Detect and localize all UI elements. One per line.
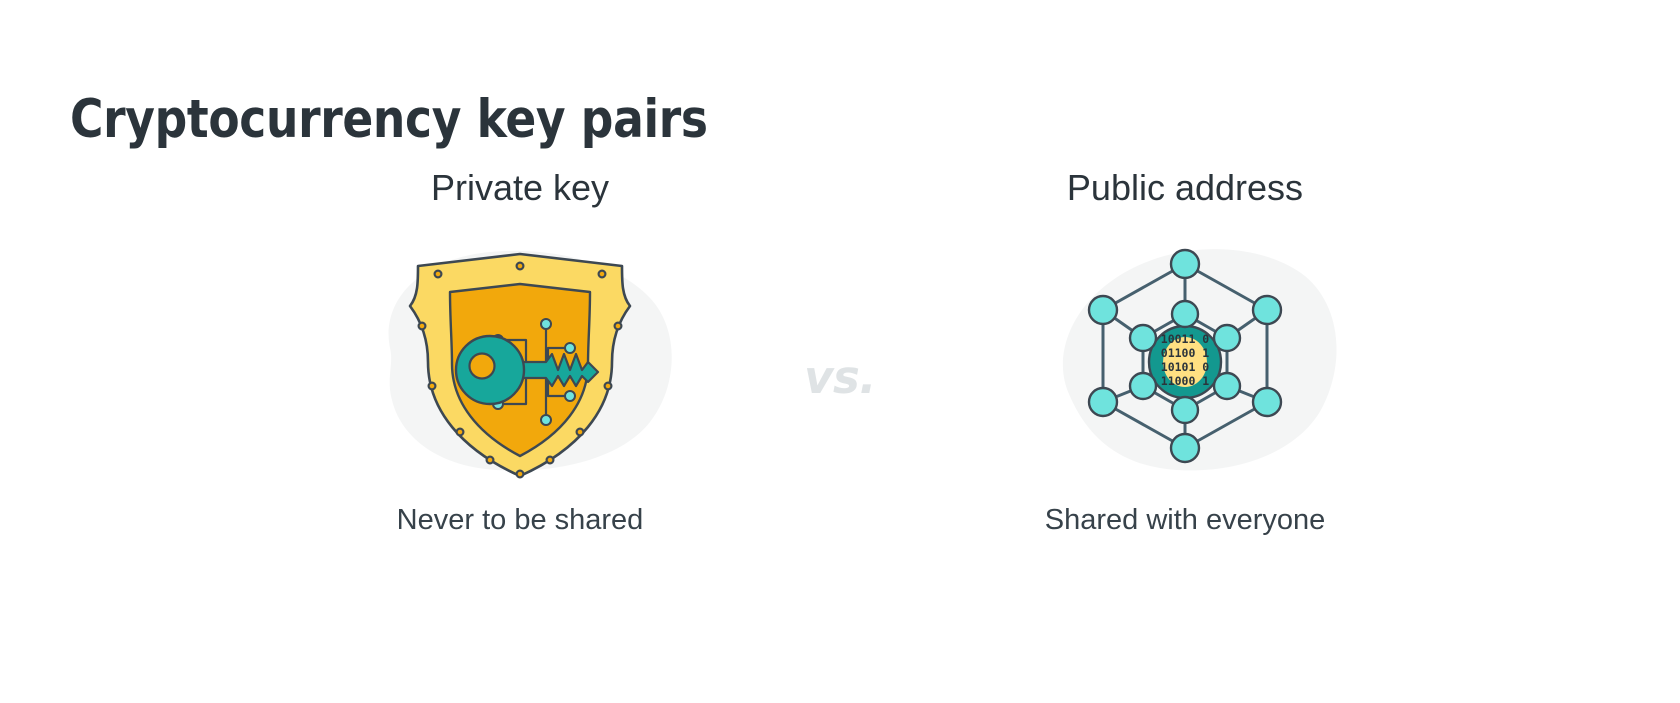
column-caption-private-key: Never to be shared	[397, 506, 644, 535]
svg-text:11000 1: 11000 1	[1161, 374, 1210, 388]
svg-text:10011 0: 10011 0	[1161, 332, 1210, 346]
comparison-container: Private key	[0, 170, 1680, 590]
column-heading-public-address: Public address	[1067, 170, 1303, 206]
illustration-private-key	[320, 236, 720, 486]
column-private-key: Private key	[305, 170, 735, 535]
svg-text:10101 0: 10101 0	[1161, 360, 1210, 374]
column-caption-public-address: Shared with everyone	[1045, 506, 1326, 535]
network-core: 10011 0 01100 1 10101 0 11000 1	[1149, 326, 1221, 398]
core-binary-digits: 10011 0 01100 1 10101 0 11000 1	[1161, 332, 1210, 388]
column-public-address: Public address	[970, 170, 1400, 535]
page-title: Cryptocurrency key pairs	[70, 91, 708, 149]
column-heading-private-key: Private key	[431, 170, 609, 206]
slide-canvas: Cryptocurrency key pairs Private key	[0, 0, 1680, 703]
key-bow-hole	[470, 354, 495, 379]
svg-text:01100 1: 01100 1	[1161, 346, 1210, 360]
illustration-public-address: 10011 0 01100 1 10101 0 11000 1	[985, 236, 1385, 486]
